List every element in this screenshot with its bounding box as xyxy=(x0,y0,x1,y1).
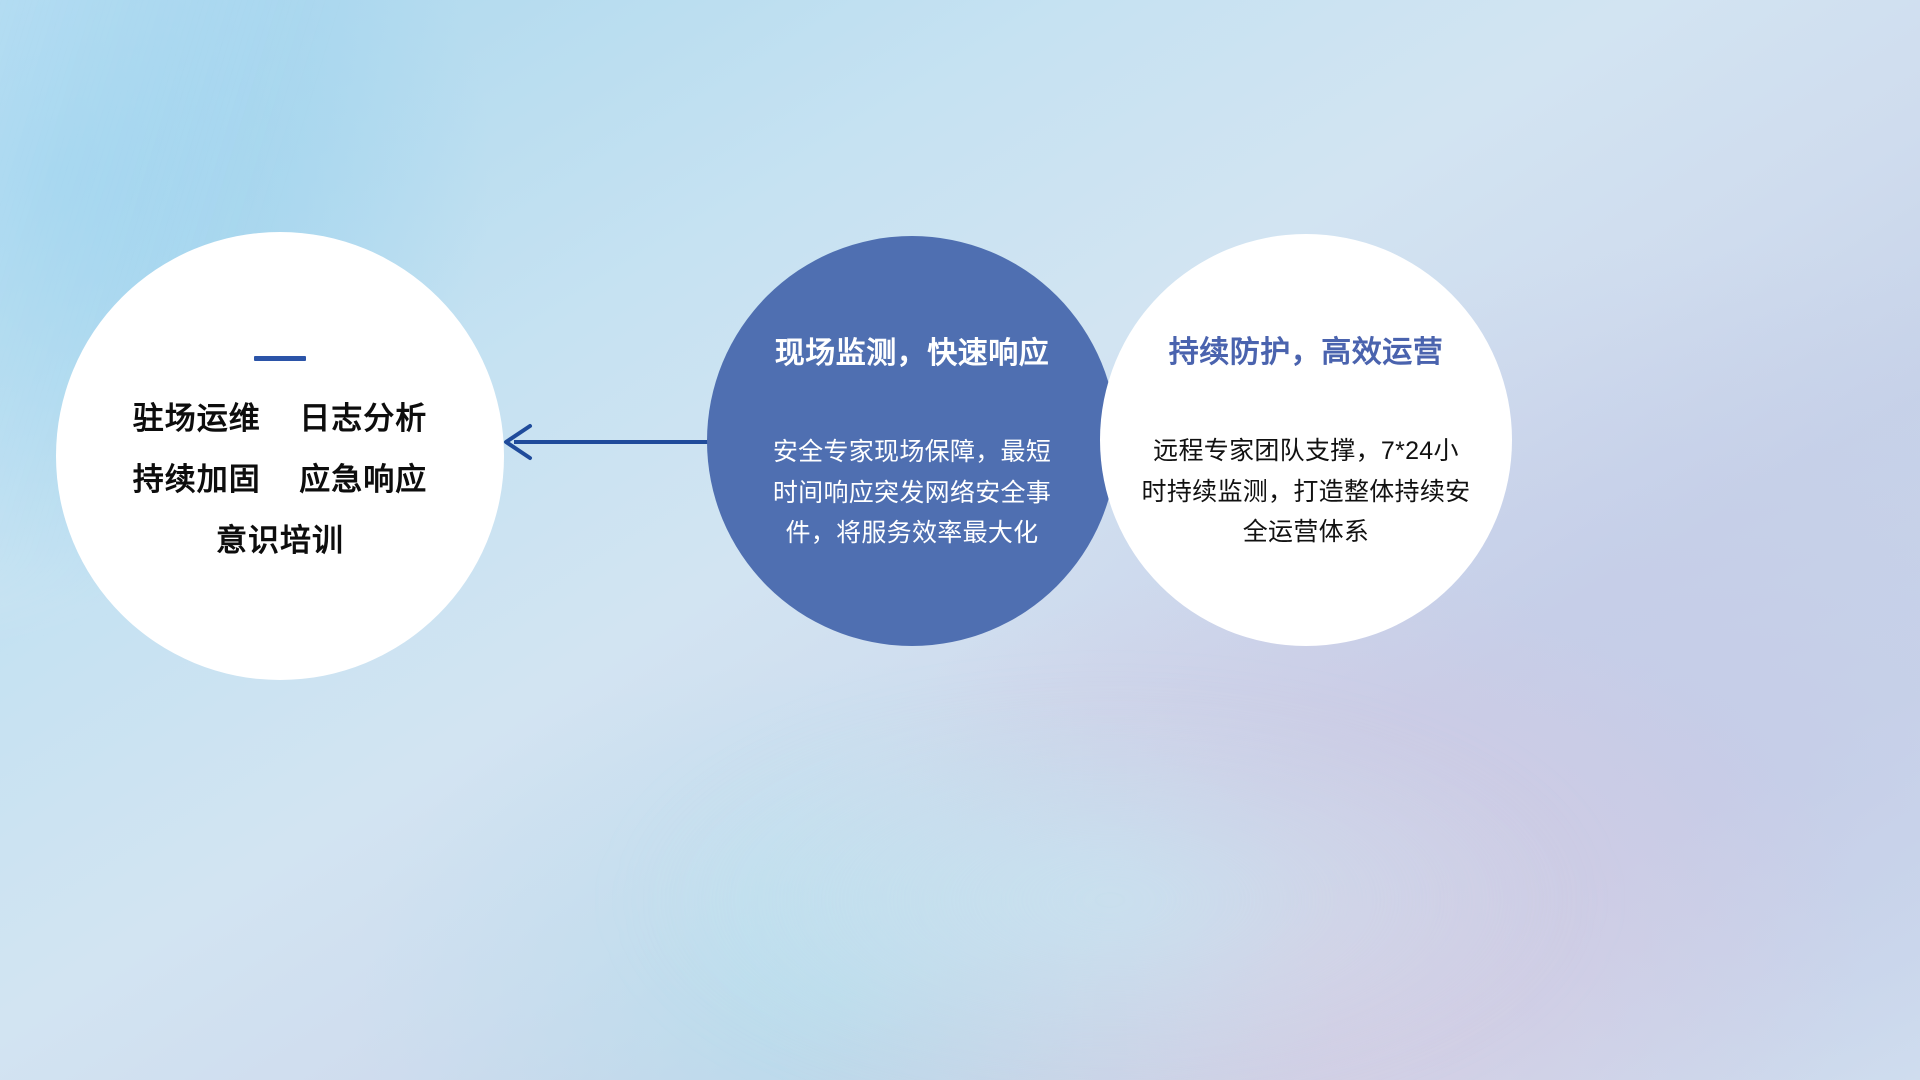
onsite-monitoring-body: 安全专家现场保障，最短时间响应突发网络安全事件，将服务效率最大化 xyxy=(762,432,1062,554)
continuous-protection-circle[interactable]: 持续防护，高效运营 远程专家团队支撑，7*24小时持续监测，打造整体持续安全运营… xyxy=(1100,234,1512,646)
capabilities-circle[interactable]: 驻场运维 日志分析 持续加固 应急响应 意识培训 xyxy=(56,232,504,680)
onsite-monitoring-circle[interactable]: 现场监测，快速响应 安全专家现场保障，最短时间响应突发网络安全事件，将服务效率最… xyxy=(707,236,1117,646)
continuous-protection-title: 持续防护，高效运营 xyxy=(1169,327,1444,371)
continuous-protection-body: 远程专家团队支撑，7*24小时持续监测，打造整体持续安全运营体系 xyxy=(1141,431,1471,553)
capability-line-3: 意识培训 xyxy=(216,525,344,556)
onsite-monitoring-title: 现场监测，快速响应 xyxy=(775,328,1050,372)
capability-line-1: 驻场运维 日志分析 xyxy=(133,403,427,434)
accent-dash-divider xyxy=(254,356,306,361)
background-glow xyxy=(620,690,1600,1080)
slide-canvas: 驻场运维 日志分析 持续加固 应急响应 意识培训 现场监测，快速响应 安全专家现… xyxy=(0,0,1920,1080)
capability-line-2: 持续加固 应急响应 xyxy=(133,464,427,495)
